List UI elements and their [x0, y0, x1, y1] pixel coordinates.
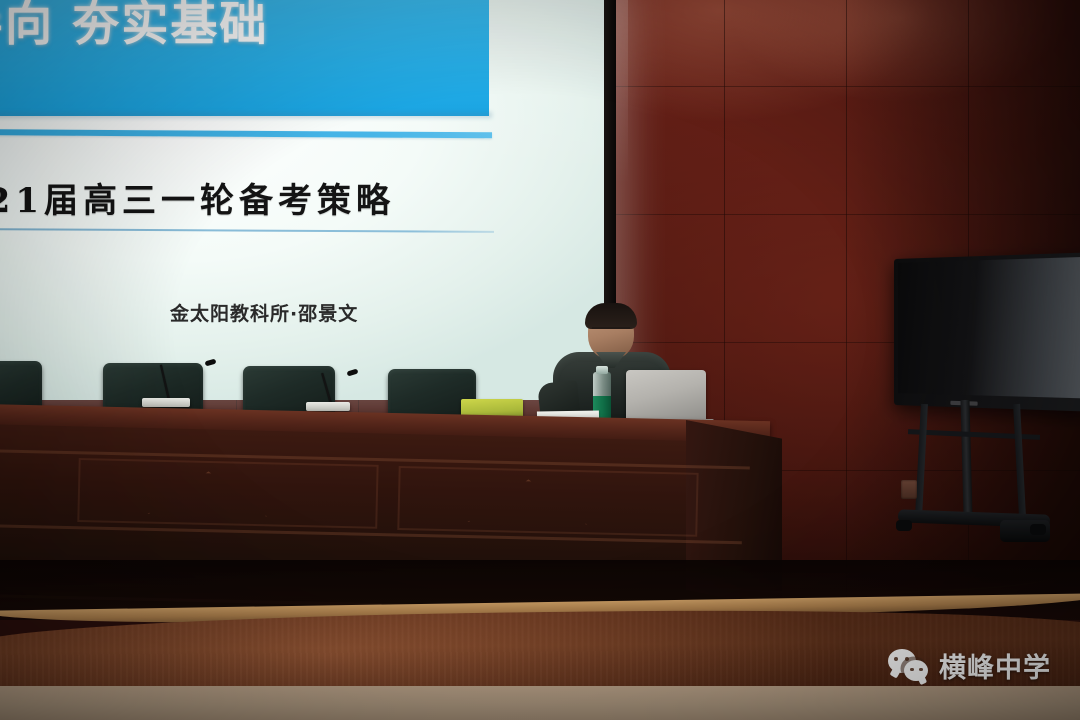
glasses-icon — [592, 327, 630, 335]
watermark: 横峰中学 — [888, 646, 1051, 685]
microphone-base — [142, 398, 190, 407]
microphone-base — [306, 402, 350, 411]
slide-banner-text: 导向 夯实基础 — [0, 0, 268, 51]
wechat-bubble-small — [904, 660, 928, 681]
wechat-eye — [894, 657, 898, 661]
tv-caster-wheel — [896, 520, 912, 531]
watermark-label: 横峰中学 — [939, 646, 1051, 685]
speaker-hair — [585, 303, 637, 329]
wechat-eye — [910, 668, 914, 672]
display-screen — [898, 257, 1080, 398]
projection-screen: 导向 夯实基础 021届高三一轮备考策略 金太阳教科所·邵景文 — [0, 0, 614, 400]
slide-author: 金太阳教科所·邵景文 — [170, 299, 358, 326]
tv-caster-wheel — [1030, 524, 1046, 535]
wechat-eye — [905, 657, 909, 661]
flat-panel-display — [894, 252, 1080, 411]
slide-thick-rule — [0, 129, 492, 138]
wechat-eye — [919, 668, 923, 672]
slide-thin-rule — [0, 228, 494, 233]
wall-outlet — [901, 480, 917, 499]
photo-canvas: 导向 夯实基础 021届高三一轮备考策略 金太阳教科所·邵景文 — [0, 0, 1080, 720]
laptop — [626, 370, 706, 422]
water-bottle-cap — [596, 366, 608, 374]
wechat-icon — [888, 649, 930, 683]
hall-floor — [0, 686, 1080, 720]
slide-banner-shadow — [0, 112, 492, 118]
slide-subtitle: 021届高三一轮备考策略 — [0, 173, 395, 222]
